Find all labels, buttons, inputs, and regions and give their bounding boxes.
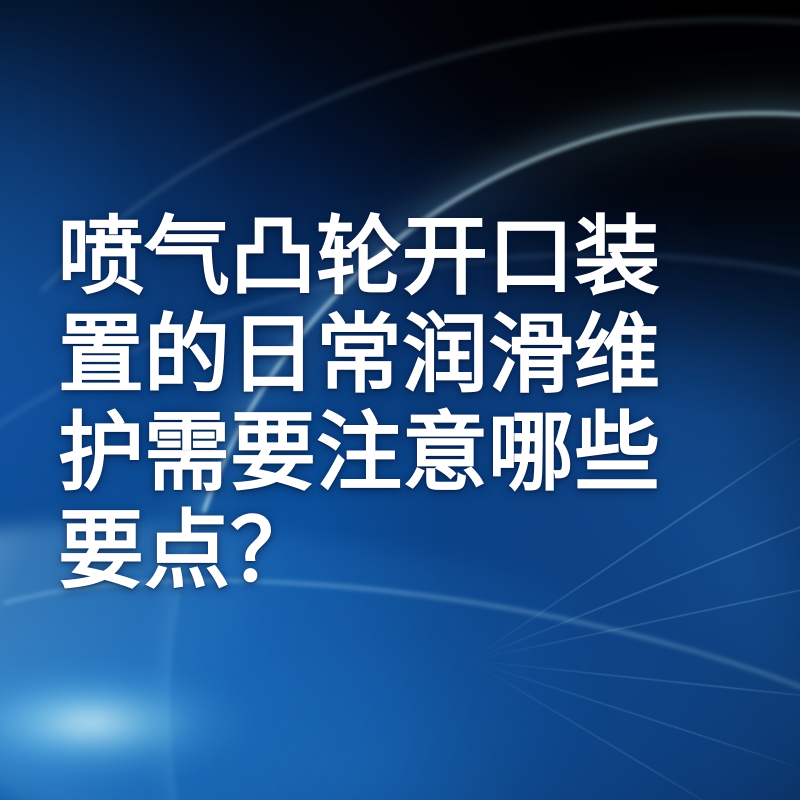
title-line-1: 喷气凸轮开口装 (58, 208, 718, 306)
page-title: 喷气凸轮开口装 置的日常润滑维 护需要注意哪些 要点？ (58, 208, 718, 600)
background-cyan-hotspot (0, 648, 300, 798)
title-line-2: 置的日常润滑维 (58, 306, 718, 404)
poster-canvas: 喷气凸轮开口装 置的日常润滑维 护需要注意哪些 要点？ (0, 0, 800, 800)
title-line-4: 要点？ (58, 502, 718, 600)
title-line-3: 护需要注意哪些 (58, 404, 718, 502)
